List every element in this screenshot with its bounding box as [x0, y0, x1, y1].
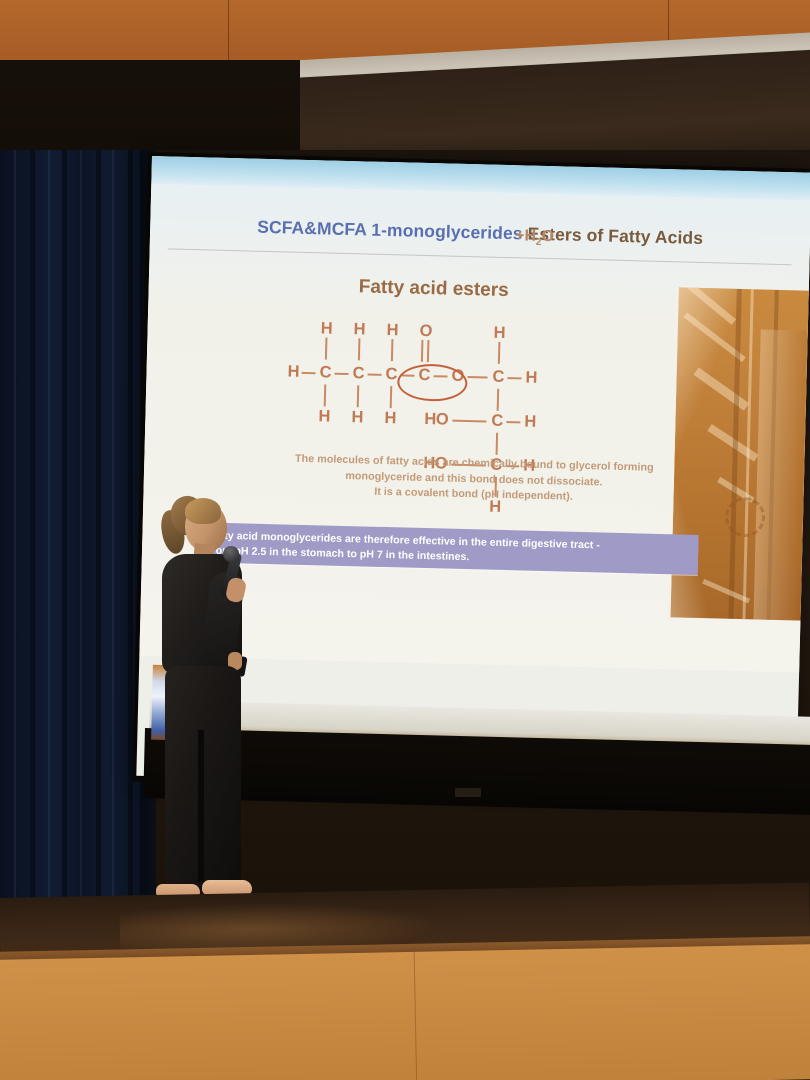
hair-front [185, 498, 221, 524]
speaker-figure [140, 480, 290, 910]
ester-bond-highlight [397, 363, 468, 402]
hand-holding-mic [225, 576, 248, 603]
water-oxygen: O [541, 228, 554, 245]
water-byproduct-label: +H2O [515, 227, 554, 248]
auditorium-scene: SCFA&MCFA 1-monoglycerides Esters of Fat… [0, 0, 810, 1080]
water-plus: +H [515, 227, 536, 245]
leg-gap [198, 730, 204, 882]
stage-front-panel [0, 944, 810, 1080]
screen-brand-logo [455, 788, 481, 797]
stage-curtain [0, 150, 148, 910]
tank-shape [753, 329, 806, 620]
